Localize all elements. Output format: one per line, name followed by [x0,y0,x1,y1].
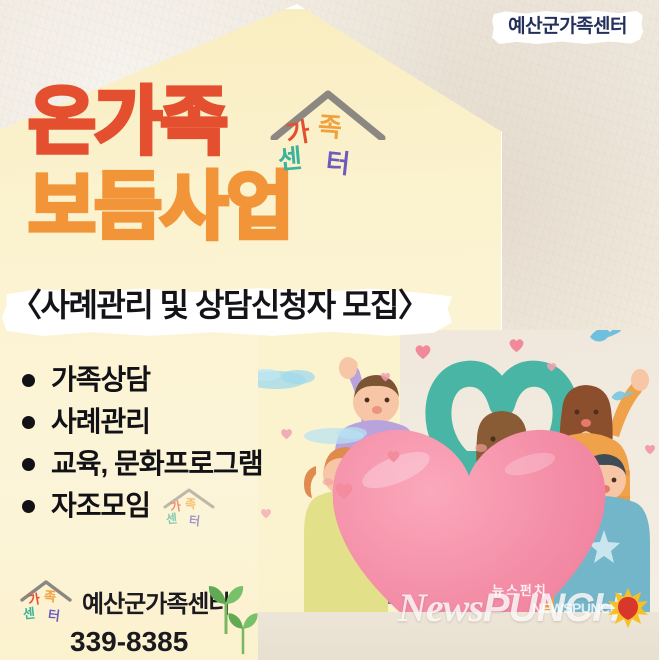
mini-heart-icon [334,482,354,500]
bird-icon [610,388,634,405]
mini-heart-icon [414,344,432,360]
mini-heart-icon [546,362,557,372]
gajok-center-logo: 가 족 센 터 [268,88,388,186]
subtitle-block: 〈사례관리 및 상담신청자 모집〉 [2,282,436,333]
footer-gajok-center-logo: 가 족 센 터 [18,578,74,624]
logo-char-jok: 족 [317,113,342,141]
logo-char-sen: 센 [22,606,35,620]
logo-char-teo: 터 [325,149,351,177]
cloud-icon [258,364,336,394]
title-line-1: 온가족 [28,86,292,159]
list-item-label: 자조모임 [51,492,150,520]
cloud-icon [302,422,378,448]
bullet-dot-icon [22,458,35,471]
bird-icon [588,330,622,348]
list-item: 가족상담 [22,366,263,394]
logo-char-sen: 센 [277,145,302,173]
logo-char-teo: 터 [47,608,60,622]
list-item-label: 교육, 문화프로그램 [51,450,263,478]
list-item: 교육, 문화프로그램 [22,450,263,478]
watermark-newspunch-small: NEWSPUNCH [532,600,619,616]
burst-icon [608,588,648,628]
mini-heart-icon [644,444,656,455]
main-title-block: 온가족 보듬사업 [28,86,292,243]
mini-heart-icon [280,428,293,440]
program-list: 가족상담 사례관리 교육, 문화프로그램 자조모임 [22,366,263,534]
title-line-2: 보듬사업 [28,171,292,244]
bullet-dot-icon [22,500,35,513]
footer-phone-number: 339-8385 [70,626,188,658]
footer-row-org: 가 족 센 터 예산군가족센터 [18,578,230,624]
watermark-korean: 뉴스펀치 [492,580,548,599]
bullet-dot-icon [22,416,35,429]
list-item-label: 가족상담 [51,366,150,394]
poster-root: 예산군가족센터 온가족 보듬사업 가 족 센 터 〈사례관리 및 상담신청자 모… [0,0,659,660]
organization-badge-label: 예산군가족센터 [508,16,627,37]
organization-badge: 예산군가족센터 [492,10,643,45]
footer-contact: 가 족 센 터 예산군가족센터 339-8385 [18,578,230,658]
mini-heart-icon [380,372,391,382]
sprout-icon [226,608,260,656]
logo-char-jok: 족 [43,590,56,604]
mini-heart-icon [508,338,525,353]
subtitle-text: 〈사례관리 및 상담신청자 모집〉 [2,282,436,333]
watermark-news: News [398,585,483,630]
list-item-label: 사례관리 [51,408,150,436]
list-item: 사례관리 [22,408,263,436]
mini-heart-icon [386,450,401,463]
bullet-dot-icon [22,374,35,387]
list-item: 자조모임 [22,492,263,520]
